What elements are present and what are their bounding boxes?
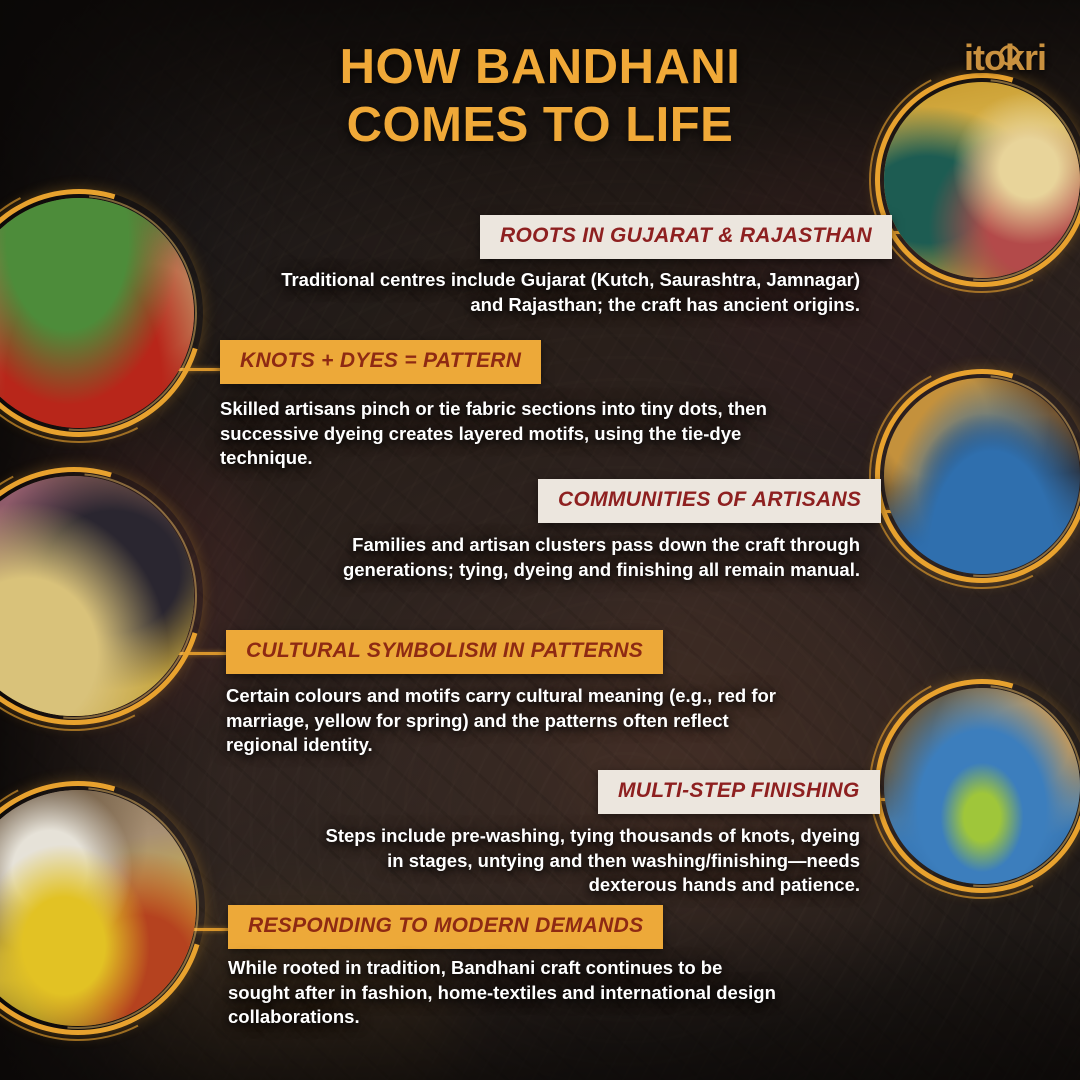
section-body-3: Families and artisan clusters pass down … bbox=[240, 533, 860, 582]
section-body-1: Traditional centres include Gujarat (Kut… bbox=[260, 268, 860, 317]
section-heading-1: ROOTS IN GUJARAT & RAJASTHAN bbox=[480, 215, 892, 259]
logo-circle-icon bbox=[999, 45, 1020, 66]
section-body-6: While rooted in tradition, Bandhani craf… bbox=[228, 956, 788, 1030]
section-body-5: Steps include pre-washing, tying thousan… bbox=[310, 824, 860, 898]
photo-two-women-tying bbox=[884, 82, 1080, 278]
photo-blue-dye-vat bbox=[884, 688, 1080, 884]
photo-seated-woman-tying bbox=[0, 476, 194, 716]
infographic-canvas: HOW BANDHANI COMES TO LIFE itokri bbox=[0, 0, 1080, 1080]
section-body-4: Certain colours and motifs carry cultura… bbox=[226, 684, 786, 758]
title-line-1: HOW BANDHANI bbox=[240, 38, 840, 96]
photo-hands-red-fabric bbox=[0, 198, 194, 428]
page-title: HOW BANDHANI COMES TO LIFE bbox=[240, 38, 840, 154]
photo-artisan-blue-vat bbox=[884, 378, 1080, 574]
photo-artisan-yellow-fabric bbox=[0, 790, 196, 1026]
section-heading-4: CULTURAL SYMBOLISM IN PATTERNS bbox=[226, 630, 663, 674]
section-heading-6: RESPONDING TO MODERN DEMANDS bbox=[228, 905, 663, 949]
section-heading-5: MULTI-STEP FINISHING bbox=[598, 770, 880, 814]
brand-logo[interactable]: itokri bbox=[964, 36, 1046, 80]
section-heading-2: KNOTS + DYES = PATTERN bbox=[220, 340, 541, 384]
section-body-2: Skilled artisans pinch or tie fabric sec… bbox=[220, 397, 770, 471]
section-heading-3: COMMUNITIES OF ARTISANS bbox=[538, 479, 881, 523]
title-line-2: COMES TO LIFE bbox=[240, 96, 840, 154]
